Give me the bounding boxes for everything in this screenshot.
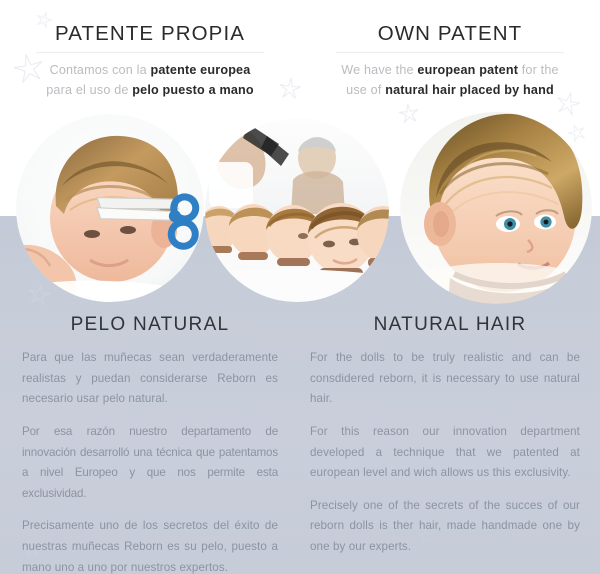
paragraph-highlight: We are different from the competition th… (310, 570, 580, 574)
infographic-page: PATENTE PROPIA Contamos con la patente e… (0, 0, 600, 574)
photo-doll-head-row (205, 118, 389, 302)
header-row: PATENTE PROPIA Contamos con la patente e… (0, 0, 600, 101)
paragraph: For the dolls to be truly realistic and … (310, 348, 580, 410)
subtitle-text: for the (518, 63, 559, 77)
subtitle-bold: european patent (417, 63, 518, 77)
body-column-english: For the dolls to be truly realistic and … (300, 348, 600, 574)
header-column-english: OWN PATENT We have the european patent f… (300, 0, 600, 101)
header-divider-left (36, 52, 264, 53)
paragraph: For this reason our innovation departmen… (310, 422, 580, 484)
photo-doll-portrait (400, 112, 592, 304)
paragraph: Para que las muñecas sean verdaderamente… (22, 348, 278, 410)
header-column-spanish: PATENTE PROPIA Contamos con la patente e… (0, 0, 300, 101)
subtitle-text: We have the (341, 63, 417, 77)
section-column-english: NATURAL HAIR (300, 314, 600, 336)
header-subtitle-spanish: Contamos con la patente europea para el … (14, 60, 286, 102)
header-subtitle-english-line2: use of natural hair placed by hand (314, 80, 586, 101)
subtitle-text: para el uso de (46, 83, 132, 97)
paragraph: Por esa razón nuestro departamento de in… (22, 422, 278, 505)
subtitle-bold: pelo puesto a mano (132, 83, 254, 97)
page-title-english: OWN PATENT (314, 22, 586, 46)
section-title-spanish: PELO NATURAL (12, 314, 288, 336)
photo-row (0, 112, 600, 308)
page-title-spanish: PATENTE PROPIA (14, 22, 286, 46)
header-subtitle-english-line1: We have the european patent for the (314, 60, 586, 81)
body-column-spanish: Para que las muñecas sean verdaderamente… (0, 348, 300, 574)
header-subtitle-spanish-line1: Contamos con la patente europea (14, 60, 286, 81)
subtitle-bold: patente europea (150, 63, 250, 77)
header-divider-right (336, 52, 564, 53)
subtitle-bold: natural hair placed by hand (385, 83, 554, 97)
body-row: Para que las muñecas sean verdaderamente… (0, 348, 600, 574)
paragraph: Precisely one of the secrets of the succ… (310, 496, 580, 558)
section-column-spanish: PELO NATURAL (0, 314, 300, 336)
subtitle-text: Contamos con la (50, 63, 151, 77)
section-title-english: NATURAL HAIR (312, 314, 588, 336)
section-title-row: PELO NATURAL NATURAL HAIR (0, 314, 600, 336)
photo-child-haircut (16, 114, 204, 302)
header-subtitle-english: We have the european patent for the use … (314, 60, 586, 102)
subtitle-text: use of (346, 83, 385, 97)
header-subtitle-spanish-line2: para el uso de pelo puesto a mano (14, 80, 286, 101)
paragraph: Precisamente uno de los secretos del éxi… (22, 516, 278, 574)
